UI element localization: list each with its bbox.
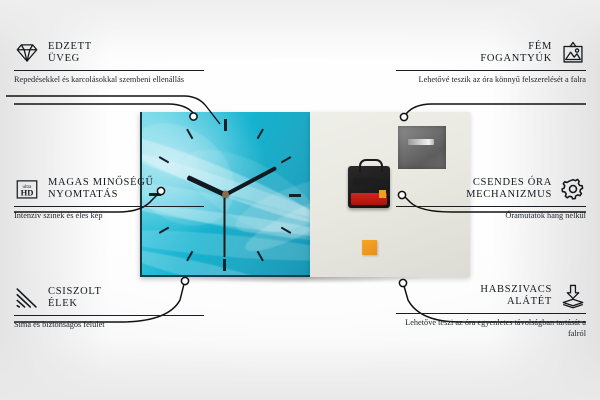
feature-header: EDZETTÜVEG [14,40,204,66]
mechanism-hang-loop [359,159,383,172]
feature-header: CSENDES ÓRAMECHANIZMUS [396,176,586,202]
feature-polished-edges[interactable]: CSISZOLTÉLEK Sima és biztonságos felület [14,285,204,331]
divider [14,206,204,207]
clock-mechanism-box [348,166,390,208]
feature-tempered-glass[interactable]: EDZETTÜVEG Repedésekkel és karcolásokkal… [14,40,204,86]
feature-description: Óramutatók hang nélkül [396,211,586,222]
gear-icon [560,176,586,202]
divider [396,313,586,314]
feature-header: FÉMFOGANTYÚK [396,40,586,66]
divider [396,70,586,71]
feature-title: MAGAS MINŐSÉGŰNYOMTATÁS [48,177,154,202]
hanger-slot [408,139,434,145]
feature-header: HABSZIVACSALÁTÉT [396,283,586,309]
mechanism-detail [353,178,379,186]
diamond-icon [14,40,40,66]
feature-title: HABSZIVACSALÁTÉT [480,284,552,309]
feature-description: Intenzív színek és éles kép [14,211,204,222]
feature-description: Lehetővé teszik az óra könnyű felszerelé… [396,75,586,86]
clock-center-pin [222,191,229,198]
battery-compartment [351,193,387,205]
feature-header: CSISZOLTÉLEK [14,285,204,311]
feature-description: Lehetővé teszi az óra egyenletes távolsá… [396,318,586,340]
divider [14,70,204,71]
divider [14,315,204,316]
feature-description: Repedésekkel és karcolásokkal szembeni e… [14,75,204,86]
feature-title: CSISZOLTÉLEK [48,286,102,311]
feature-title: CSENDES ÓRAMECHANIZMUS [466,177,552,202]
feature-description: Sima és biztonságos felület [14,320,204,331]
metal-hanger-plate [398,126,446,169]
feature-title: FÉMFOGANTYÚK [480,41,552,66]
feature-header: ultra HD MAGAS MINŐSÉGŰNYOMTATÁS [14,176,204,202]
feature-high-quality-print[interactable]: ultra HD MAGAS MINŐSÉGŰNYOMTATÁS Intenzí… [14,176,204,222]
svg-text:HD: HD [21,188,34,198]
feature-metal-handles[interactable]: FÉMFOGANTYÚK Lehetővé teszik az óra könn… [396,40,586,86]
divider [396,206,586,207]
ultra-hd-icon: ultra HD [14,176,40,202]
feature-title: EDZETTÜVEG [48,41,92,66]
feature-silent-mechanism[interactable]: CSENDES ÓRAMECHANIZMUS Óramutatók hang n… [396,176,586,222]
picture-hanger-icon [560,40,586,66]
feature-foam-pad[interactable]: HABSZIVACSALÁTÉT Lehetővé teszi az óra e… [396,283,586,340]
foam-pad-icon [560,283,586,309]
foam-spacer-pad [362,240,377,255]
polished-edges-icon [14,285,40,311]
infographic-canvas: EDZETTÜVEG Repedésekkel és karcolásokkal… [0,0,600,400]
